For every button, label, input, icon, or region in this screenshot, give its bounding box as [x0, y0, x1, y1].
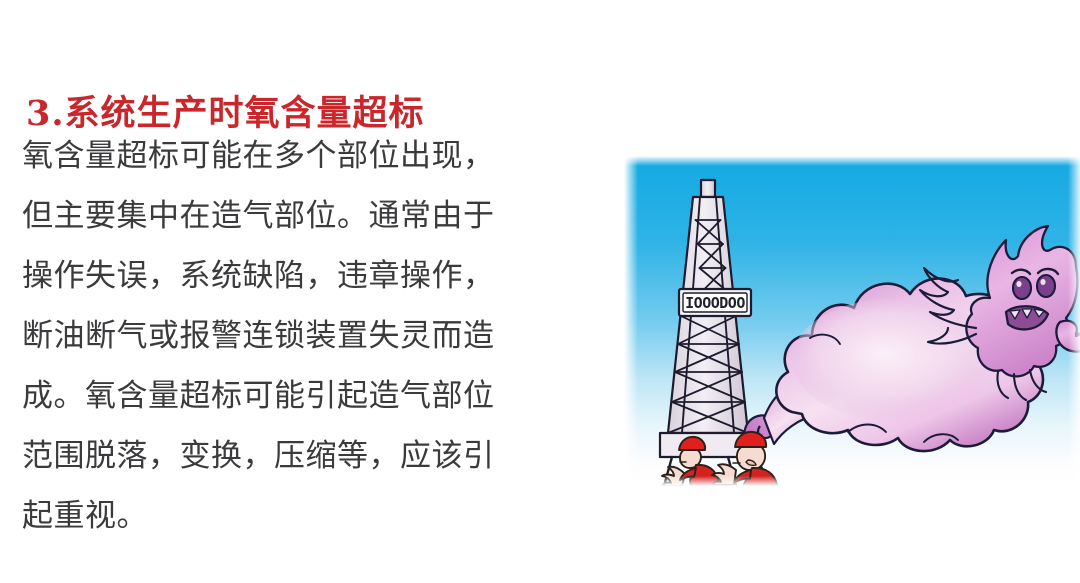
derrick-signboard: IOOODOO	[679, 289, 751, 316]
body-line: 但主要集中在造气部位。通常由于	[22, 186, 562, 246]
body-line: 断油断气或报警连锁装置失灵而造	[22, 306, 562, 366]
derrick-sign-text: IOOODOO	[685, 294, 745, 312]
scene-illustration: IOOODOO	[624, 156, 1080, 486]
body-line: 起重视。	[22, 486, 562, 546]
worker-front-hand	[712, 464, 736, 485]
monster-left-eye-glint	[1016, 281, 1021, 287]
body-paragraph: 氧含量超标可能在多个部位出现， 但主要集中在造气部位。通常由于 操作失误，系统缺…	[22, 126, 562, 546]
monster-head	[966, 226, 1077, 376]
illustration-canvas: IOOODOO	[624, 156, 1080, 486]
derrick-crown-icon	[701, 180, 715, 197]
monster-left-eye	[1013, 277, 1031, 299]
body-line: 成。氧含量超标可能引起造气部位	[22, 366, 562, 426]
monster-teeth	[1010, 309, 1044, 319]
body-line: 氧含量超标可能在多个部位出现，	[22, 126, 562, 186]
body-line: 操作失误，系统缺陷，违章操作，	[22, 246, 562, 306]
text-column: 3.系统生产时氧含量超标 氧含量超标可能在多个部位出现， 但主要集中在造气部位。…	[0, 0, 580, 583]
body-line: 范围脱落，变换，压缩等，应该引	[22, 426, 562, 486]
monster-right-eye	[1037, 275, 1055, 297]
page-root: 3.系统生产时氧含量超标 氧含量超标可能在多个部位出现， 但主要集中在造气部位。…	[0, 0, 1080, 583]
illustration-figure: IOOODOO	[624, 156, 1080, 486]
monster-right-eye-glint	[1040, 279, 1045, 285]
